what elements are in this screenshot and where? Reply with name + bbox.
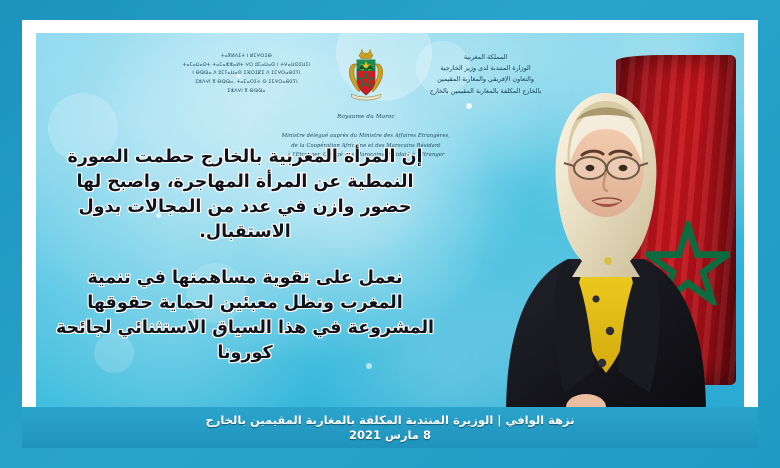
content-panel: ⵜⴰⴳⵍⴷⵉⵜ ⵏ ⵍⵎⵖⵔⵉⴱ ⵜⴰⵎⴰⵡⴰⵙⵜ ⵜⴰⵎⴰⵣⵣⴰⵍⵜ ⵖⵔ ⵓ… [36, 33, 744, 415]
ministry-name-tifinagh: ⵜⴰⴳⵍⴷⵉⵜ ⵏ ⵍⵎⵖⵔⵉⴱ ⵜⴰⵎⴰⵡⴰⵙⵜ ⵜⴰⵎⴰⵣⵣⴰⵍⵜ ⵖⵔ ⵓ… [156, 49, 337, 97]
moroccan-coat-of-arms-icon [345, 49, 387, 101]
footer-date: 8 مارس 2021 [349, 428, 431, 443]
footer-credit: نزهة الوافي | الوزيرة المنتدبة المكلفة ب… [205, 413, 574, 428]
portrait-of-minister-image [490, 63, 722, 415]
poster-root: ⵜⴰⴳⵍⴷⵉⵜ ⵏ ⵍⵎⵖⵔⵉⴱ ⵜⴰⵎⴰⵡⴰⵙⵜ ⵜⴰⵎⴰⵣⵣⴰⵍⵜ ⵖⵔ ⵓ… [0, 0, 780, 468]
quote-block: إن المرأة المغربية بالخارج حطمت الصورة ا… [54, 145, 436, 366]
footer-bar: نزهة الوافي | الوزيرة المنتدبة المكلفة ب… [22, 407, 758, 448]
quote-paragraph-2: نعمل على تقوية مساهمتها في تنمية المغرب … [54, 266, 436, 365]
portrait-area [476, 33, 744, 415]
quote-paragraph-1: إن المرأة المغربية بالخارج حطمت الصورة ا… [54, 145, 436, 244]
royaume-du-maroc-label: Royaume du Maroc [282, 112, 450, 122]
